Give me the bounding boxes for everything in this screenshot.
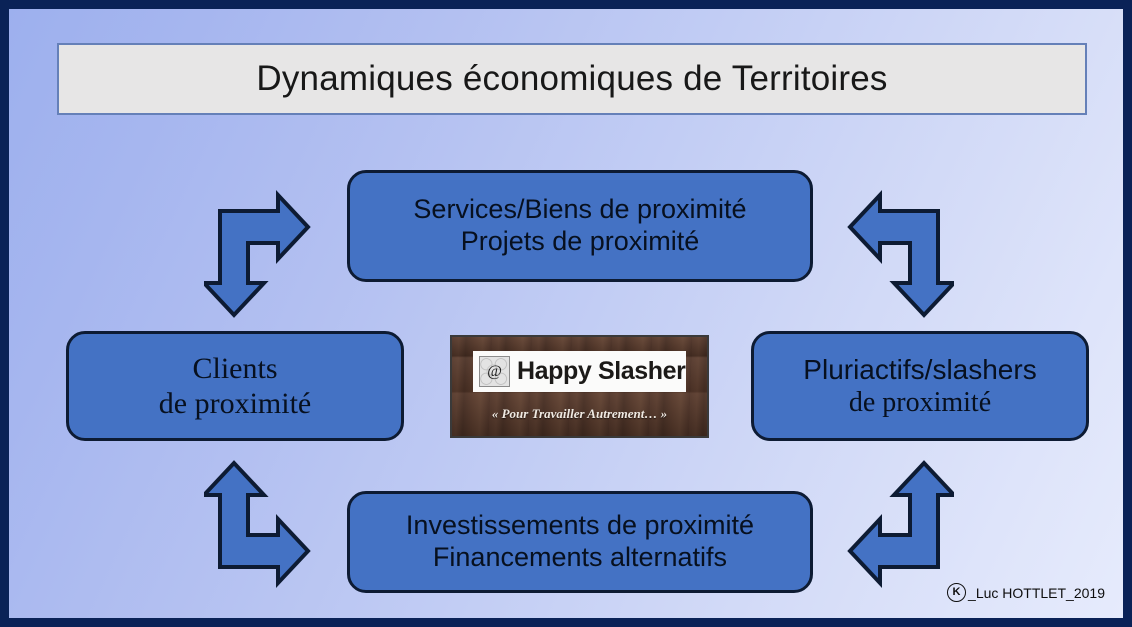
process-box-services[interactable]: Services/Biens de proximité Projets de p…	[347, 170, 813, 282]
author-credit-text: _Luc HOTTLET_2019	[968, 585, 1105, 601]
logo-tagline: « Pour Travailler Autrement… »	[492, 406, 667, 422]
process-box-pluriactifs-line1: Pluriactifs/slashers	[803, 353, 1036, 386]
arrow-up-right-icon	[204, 459, 314, 589]
process-box-investissements[interactable]: Investissements de proximité Financement…	[347, 491, 813, 593]
logo-name: Happy Slasher	[517, 357, 685, 386]
logo-plate: @ Happy Slasher	[473, 351, 686, 392]
page-title: Dynamiques économiques de Territoires	[256, 59, 887, 99]
slide-canvas: Dynamiques économiques de Territoires Se…	[0, 0, 1132, 627]
process-box-services-line2: Projets de proximité	[461, 226, 700, 258]
process-box-investissements-line1: Investissements de proximité	[406, 510, 754, 542]
arrow-up-left-icon	[844, 459, 954, 589]
slide-title-bar: Dynamiques économiques de Territoires	[57, 43, 1087, 115]
arrow-down-right-icon	[204, 189, 314, 319]
logo-mark-icon: @	[479, 356, 510, 387]
circled-k-icon: K	[947, 583, 966, 602]
happy-slasher-logo: @ Happy Slasher « Pour Travailler Autrem…	[450, 335, 709, 438]
process-box-clients[interactable]: Clients de proximité	[66, 331, 404, 441]
process-box-clients-line1: Clients	[192, 351, 277, 386]
arrow-left-down-icon	[844, 189, 954, 319]
process-box-clients-line2: de proximité	[159, 386, 311, 421]
process-box-services-line1: Services/Biens de proximité	[413, 194, 746, 226]
process-box-investissements-line2: Financements alternatifs	[433, 542, 727, 574]
author-credit: K _Luc HOTTLET_2019	[947, 583, 1105, 602]
process-box-pluriactifs[interactable]: Pluriactifs/slashers de proximité	[751, 331, 1089, 441]
process-box-pluriactifs-line2: de proximité	[849, 386, 991, 419]
